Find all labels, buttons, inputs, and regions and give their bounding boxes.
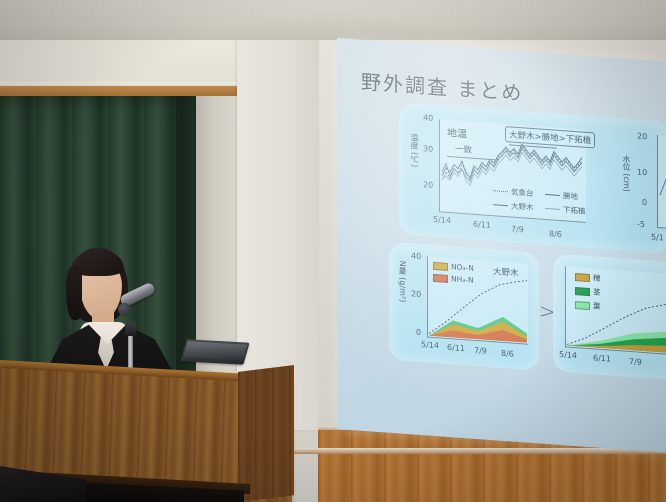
microphone-stand xyxy=(128,330,133,370)
legend-swatch-dotted xyxy=(493,190,508,192)
tick-water-date-51: 5/1 xyxy=(651,233,664,243)
ceiling xyxy=(0,0,666,40)
tick-o-date-514: 5/14 xyxy=(559,350,577,360)
tick-date-86: 8/6 xyxy=(549,229,562,239)
legend-swatch-stem xyxy=(575,287,590,296)
site-label-onogi: 大野木 xyxy=(493,265,519,279)
tick-n-40: 40 xyxy=(411,251,421,261)
tick-temp-20: 20 xyxy=(423,180,433,190)
axis-label-nitrogen: N量 (g/m²) xyxy=(397,260,408,302)
tick-water-20: 20 xyxy=(637,132,647,142)
tick-water-minus5: -5 xyxy=(637,220,645,230)
legend-label-panicle: 穂 xyxy=(593,272,601,284)
legend-swatch-solid-1 xyxy=(545,194,560,196)
legend-label-onogi: 大野木 xyxy=(511,200,534,213)
tick-date-514: 5/14 xyxy=(433,215,451,225)
chart-title-chion: 地温 xyxy=(447,124,467,140)
legend-swatch-panicle xyxy=(575,273,590,282)
wall-column xyxy=(237,0,319,430)
tick-n-date-86: 8/6 xyxy=(501,349,514,359)
presentation-photo: 野外調査 まとめ 40 30 20 温度 (℃) 地温 一致 大野木>勝地>下拓… xyxy=(0,0,666,502)
tick-n-date-611: 6/11 xyxy=(447,343,465,353)
legend-stem: 茎 xyxy=(575,285,601,298)
legend-leaf: 葉 xyxy=(575,299,601,312)
podium-side xyxy=(238,365,294,502)
tick-water-0: 0 xyxy=(642,198,647,207)
tick-temp-30: 30 xyxy=(423,144,433,154)
legend-label-leaf: 葉 xyxy=(593,300,601,312)
legend-swatch-no3n xyxy=(433,261,448,270)
legend-label-nh4n: NH₄-N xyxy=(451,274,474,285)
microphone-head-icon xyxy=(118,303,131,316)
panel-soil-temperature: 40 30 20 温度 (℃) 地温 一致 大野木>勝地>下拓植 気象台 勝地 … xyxy=(399,102,666,253)
series-water-level xyxy=(660,169,666,198)
laptop xyxy=(180,339,249,364)
tick-temp-40: 40 xyxy=(423,113,433,123)
tick-date-611: 6/11 xyxy=(473,220,491,230)
panel-nitrogen-onogi: 40 20 0 N量 (g/m²) NO₃-N NH₄-N 大野木 xyxy=(389,242,539,371)
tick-date-79: 7/9 xyxy=(511,224,524,234)
tick-n-20: 20 xyxy=(411,289,421,299)
axis-label-water-level: 水位 (cm) xyxy=(621,154,632,192)
legend-katsuchi: 勝地 xyxy=(545,189,578,202)
axis-label-temperature: 温度 (℃) xyxy=(409,133,420,168)
legend-swatch-solid-3 xyxy=(545,208,560,210)
tick-water-10: 10 xyxy=(637,168,647,178)
legend-panicle: 穂 xyxy=(575,271,601,284)
slide-title: 野外調査 まとめ xyxy=(361,66,523,107)
legend-swatch-leaf xyxy=(575,301,590,310)
legend-swatch-nh4n xyxy=(433,273,448,282)
hair-side xyxy=(66,266,82,320)
panel-nitrogen-organs: 穂 茎 葉 5/14 6/11 7/9 xyxy=(553,253,666,380)
laptop-screen xyxy=(183,341,247,360)
tick-n-0: 0 xyxy=(416,328,421,337)
microphone-clip xyxy=(125,322,136,336)
legend-label-no3n: NO₃-N xyxy=(451,262,474,273)
legend-label-shimotakutsuge: 下拓植 xyxy=(563,204,586,217)
legend-label-stem: 茎 xyxy=(593,286,601,298)
tick-n-date-514: 5/14 xyxy=(421,340,439,350)
tick-n-date-79: 7/9 xyxy=(474,346,487,356)
annot-icchi: 一致 xyxy=(455,142,472,155)
tick-o-date-611: 6/11 xyxy=(593,353,611,363)
tick-o-date-79: 7/9 xyxy=(629,357,642,367)
legend-label-katsuchi: 勝地 xyxy=(563,190,578,202)
legend-label-kishodai: 気象台 xyxy=(511,186,534,199)
chart-water-level xyxy=(657,135,666,231)
projection-screen: 野外調査 まとめ 40 30 20 温度 (℃) 地温 一致 大野木>勝地>下拓… xyxy=(337,38,666,453)
legend-swatch-solid-2 xyxy=(493,204,508,206)
